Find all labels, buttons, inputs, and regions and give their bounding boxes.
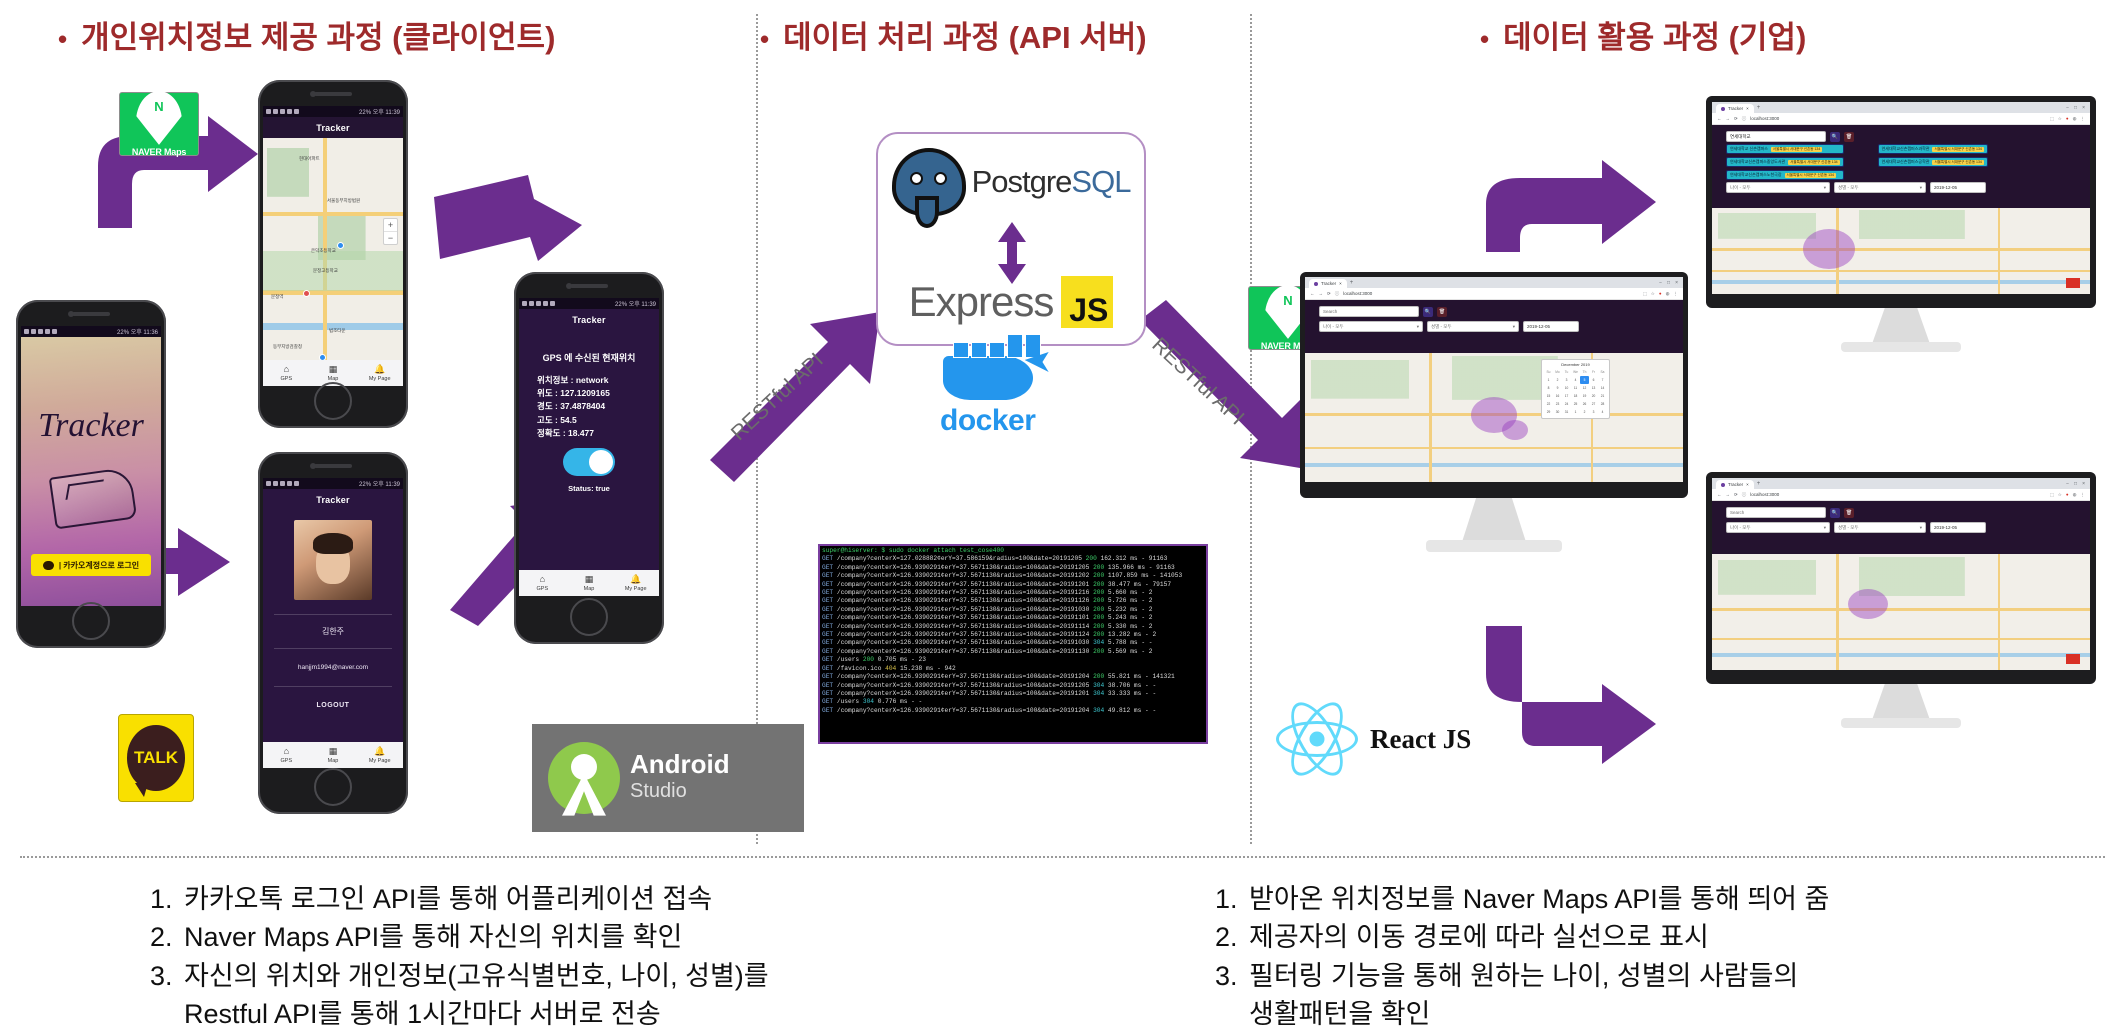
date-input[interactable]: 2019-12-05 [1930, 182, 1986, 193]
terminal-output: super@hiserver: $ sudo docker attach tes… [820, 546, 1206, 716]
app-title: Tracker [263, 117, 403, 137]
home-icon: ⌂ [263, 746, 310, 757]
tracker-wordmark: Tracker [21, 407, 161, 445]
phone-home-button[interactable] [314, 768, 352, 806]
maximize-icon[interactable]: □ [2074, 481, 2077, 487]
gender-filter-select[interactable]: 성별 - 모두▾ [1834, 522, 1926, 533]
results-column-right: 연세대학교신촌캠퍼스과학관서울특별시 서대문구 신촌동 134 연세대학교신촌캠… [1878, 144, 1988, 180]
minimize-icon[interactable]: − [1659, 280, 1662, 286]
logout-button[interactable]: LOGOUT [274, 702, 392, 709]
profile-name: 김한주 [274, 626, 392, 637]
chevron-down-icon: ▾ [1920, 525, 1922, 531]
monitor-base [1841, 718, 1961, 728]
browser-tabbar[interactable]: Tracker× + −□× [1712, 478, 2090, 489]
phone-home-button[interactable] [72, 602, 110, 640]
search-input[interactable]: Search [1726, 507, 1826, 518]
route-cluster [1848, 589, 1888, 619]
search-row: Search 🔍 🗑 [1712, 505, 2090, 520]
url-text[interactable]: localhost:3000 [1750, 492, 1779, 497]
search-row: 연세대학교 🔍 🗑 [1712, 129, 2090, 144]
map-label: 법조타운 [329, 328, 346, 334]
new-tab-button[interactable]: + [1757, 105, 1761, 111]
kakao-talk-badge[interactable]: TALK [118, 714, 194, 802]
status-bar: 22% 오후 11:39 [263, 106, 403, 117]
browser-tabbar[interactable]: Tracker× + −□× [1305, 277, 1683, 288]
browser-main[interactable]: Tracker× + −□× ←→⟳ ⓘlocalhost:3000 ⬚☆●◍⋮… [1305, 277, 1683, 482]
phone-profile-screen: 22% 오후 11:39 Tracker 김한주 hanjjm1994@nave… [263, 478, 403, 768]
browser-search-results[interactable]: Tracker× + −□× ←→⟳ ⓘlocalhost:3000 ⬚☆●◍⋮… [1712, 102, 2090, 294]
map-label: 문정역 [271, 294, 283, 300]
phone-speaker-icon [570, 284, 608, 288]
close-icon[interactable]: × [1339, 281, 1342, 286]
menu-icon[interactable]: ⋮ [2081, 492, 2086, 498]
favicon-icon [1314, 282, 1318, 286]
home-icon: ⌂ [519, 574, 566, 585]
profile-email: hanjjm1994@naver.com [274, 664, 392, 671]
kakao-bubble-icon: TALK [127, 725, 185, 790]
forward-icon[interactable]: → [1726, 492, 1731, 497]
phone-login-screen: 22% 오후 11:36 Tracker | 카카오계정으로 로그인 [21, 326, 161, 606]
android-robot-icon [548, 742, 620, 814]
browser-tab[interactable]: Tracker× [1716, 104, 1754, 113]
bullet-icon: • [1480, 24, 1489, 54]
back-icon[interactable]: ← [1717, 116, 1722, 121]
monitor-stand [1462, 498, 1526, 542]
status-bar: 22% 오후 11:39 [263, 478, 403, 489]
arrow-monitor-to-top [1480, 160, 1670, 270]
naver-maps-badge-client[interactable]: N NAVER Maps [119, 92, 199, 156]
eye-icon [910, 172, 923, 185]
note-item: 2.제공자의 이동 경로에 따라 실선으로 표시 [1215, 918, 1829, 956]
section-title-api-label: 데이터 처리 과정 (API 서버) [783, 20, 1146, 55]
url-text[interactable]: localhost:3000 [1343, 291, 1372, 296]
gps-status-line: Status: true [519, 484, 659, 493]
status-battery: 22% 오후 11:39 [615, 299, 656, 308]
elephant-icon [892, 148, 966, 216]
close-icon[interactable]: × [1746, 106, 1749, 111]
phone-gps-screen: 22% 오후 11:39 Tracker GPS 에 수신된 현재위치 위치정보… [519, 298, 659, 596]
divider [274, 648, 392, 649]
app-title: Tracker [519, 309, 659, 329]
gps-field-accuracy: 정확도 : 18.477 [537, 427, 659, 440]
naver-map-view[interactable]: December 2019 SuMoTuWeThFrSa123456789101… [1305, 353, 1683, 482]
react-label: React JS [1370, 724, 1471, 755]
date-picker-calendar[interactable]: December 2019 SuMoTuWeThFrSa123456789101… [1541, 359, 1610, 419]
phone-speaker-icon [72, 312, 110, 316]
bookmark-icon[interactable]: ☆ [1651, 291, 1655, 297]
kakao-login-button[interactable]: | 카카오계정으로 로그인 [31, 554, 151, 576]
browser-urlbar[interactable]: ←→⟳ ⓘlocalhost:3000 ⬚☆●◍⋮ [1305, 288, 1683, 300]
phone-speaker-icon [314, 464, 352, 468]
app-filter-panel: 연세대학교 🔍 🗑 연세대학교 신촌캠퍼스서울특별시 서대문구 신촌동 134 … [1712, 125, 2090, 217]
phone-gps: 22% 오후 11:39 Tracker GPS 에 수신된 현재위치 위치정보… [514, 272, 664, 644]
chevron-down-icon: ▾ [1513, 324, 1515, 330]
naver-pin-letter: N [136, 99, 183, 114]
filter-row: 나이 - 모두▾ 성별 - 모두▾ 2019-12-05 [1712, 180, 2090, 195]
reactjs-logo: React JS [1278, 700, 1471, 778]
search-icon[interactable]: 🔍 [1830, 508, 1840, 518]
browser-tab[interactable]: Tracker× [1309, 279, 1347, 288]
monitor-base [1426, 540, 1562, 552]
result-item[interactable]: 연세대학교신촌캠퍼스노천극장서울특별시 서대문구 신촌동 134 [1726, 170, 1844, 180]
maximize-icon[interactable]: □ [2074, 105, 2077, 111]
back-icon[interactable]: ← [1717, 492, 1722, 497]
note-item: 3.필터링 기능을 통해 원하는 나이, 성별의 사람들의 [1215, 957, 1829, 995]
trash-icon[interactable]: 🗑 [1844, 508, 1854, 518]
route-cluster [1502, 420, 1528, 440]
age-filter-select[interactable]: 나이 - 모두▾ [1726, 182, 1830, 193]
map-marker[interactable] [303, 290, 310, 297]
profile-icon[interactable]: ◍ [2073, 116, 2077, 122]
search-input[interactable]: 연세대학교 [1726, 131, 1826, 142]
js-badge: JS [1061, 276, 1113, 328]
gps-heading: GPS 에 수신된 현재위치 [519, 351, 659, 364]
postgresql-logo: PostgreSQL [878, 148, 1144, 216]
minimize-icon[interactable]: − [2066, 105, 2069, 111]
postgresql-label: PostgreSQL [972, 164, 1131, 200]
results-column-left: 연세대학교 신촌캠퍼스서울특별시 서대문구 신촌동 134 연세대학교신촌캠퍼스… [1726, 144, 1844, 180]
nav-item-map[interactable]: ▦Map [310, 746, 357, 764]
grid-icon: ▦ [566, 574, 613, 585]
date-input[interactable]: 2019-12-05 [1523, 321, 1579, 332]
menu-icon[interactable]: ⋮ [2081, 116, 2086, 122]
arrow-monitor-to-bottom [1480, 640, 1670, 760]
gps-fields: 위치정보 : network 위도 : 127.1209165 경도 : 37.… [537, 374, 659, 440]
app-title: Tracker [263, 489, 403, 509]
bullet-icon: • [58, 24, 67, 54]
extension-icon[interactable]: ⬚ [2050, 116, 2054, 122]
adblock-icon[interactable]: ● [1659, 291, 1662, 296]
new-tab-button[interactable]: + [1350, 280, 1354, 286]
bookmark-icon[interactable]: ☆ [2058, 116, 2062, 122]
bottom-nav[interactable]: ⌂GPS ▦Map 🔔My Page [263, 742, 403, 768]
profile-photo [294, 520, 372, 600]
new-tab-button[interactable]: + [1757, 481, 1761, 487]
kakao-talk-label: TALK [134, 748, 178, 768]
nav-item-mypage[interactable]: 🔔My Page [356, 746, 403, 764]
monitor-top-right: Tracker× + −□× ←→⟳ ⓘlocalhost:3000 ⬚☆●◍⋮… [1706, 96, 2096, 308]
window-controls[interactable]: −□× [1659, 280, 1683, 286]
chevron-down-icon: ▾ [1417, 324, 1419, 330]
notes-right: 1.받아온 위치정보를 Naver Maps API를 통해 띄어 줌 2.제공… [1215, 880, 1829, 1033]
zoom-out-button[interactable]: − [384, 231, 397, 244]
status-icons-left [266, 109, 299, 114]
bell-icon: 🔔 [356, 746, 403, 757]
react-atom-icon [1278, 700, 1356, 778]
search-icon[interactable]: 🔍 [1423, 307, 1433, 317]
section-title-client: •개인위치정보 제공 과정 (클라이언트) [58, 12, 555, 57]
bullet-icon: • [760, 24, 769, 54]
grid-icon: ▦ [310, 364, 357, 375]
menu-icon[interactable]: ⋮ [1674, 291, 1679, 297]
age-filter-select[interactable]: 나이 - 모두▾ [1726, 522, 1830, 533]
map-legend-marker [2066, 278, 2080, 288]
monitor-stand [1872, 308, 1930, 344]
monitor-main: Tracker× + −□× ←→⟳ ⓘlocalhost:3000 ⬚☆●◍⋮… [1300, 272, 1688, 498]
grid-icon: ▦ [310, 746, 357, 757]
android-studio-badge: Android Studio [532, 724, 804, 832]
gender-filter-select[interactable]: 성별 - 모두▾ [1427, 321, 1519, 332]
section-title-company-label: 데이터 활용 과정 (기업) [1503, 20, 1806, 55]
note-item: 3.자신의 위치와 개인정보(고유식별번호, 나이, 성별)를 [150, 957, 769, 995]
filter-row: 나이 - 모두▾ 성별 - 모두▾ 2019-12-05 [1712, 520, 2090, 535]
gps-toggle-switch[interactable] [563, 448, 615, 476]
date-input[interactable]: 2019-12-05 [1930, 522, 1986, 533]
monitor-base [1841, 342, 1961, 352]
profile-icon[interactable]: ◍ [2073, 492, 2077, 498]
map-label: 현대아파트 [299, 156, 320, 162]
nav-item-map[interactable]: ▦Map [566, 574, 613, 592]
note-item-continued: Restful API를 통해 1시간마다 서버로 전송 [150, 995, 769, 1033]
divider [274, 614, 392, 615]
info-icon: ⓘ [1742, 116, 1747, 122]
extension-icon[interactable]: ⬚ [1643, 291, 1647, 297]
gps-field-provider: 위치정보 : network [537, 374, 659, 387]
android-label: Android [630, 751, 730, 777]
note-item: 1.카카오톡 로그인 API를 통해 어플리케이션 접속 [150, 880, 769, 918]
divider [274, 686, 392, 687]
phone-home-button[interactable] [314, 382, 352, 420]
phone-speaker-icon [314, 92, 352, 96]
phone-home-button[interactable] [570, 598, 608, 636]
naver-maps-label: NAVER Maps [132, 147, 186, 157]
map-zoom-controls[interactable]: + − [383, 218, 398, 245]
map-marker[interactable] [337, 242, 344, 249]
result-item[interactable]: 연세대학교신촌캠퍼스과학관서울특별시 서대문구 신촌동 134 [1878, 144, 1988, 154]
zoom-in-button[interactable]: + [384, 219, 397, 231]
section-title-company: •데이터 활용 과정 (기업) [1480, 12, 1806, 57]
home-icon: ⌂ [263, 364, 310, 375]
map-label: 문정고등학교 [313, 268, 338, 274]
info-icon: ⓘ [1335, 291, 1340, 297]
trash-icon[interactable]: 🗑 [1844, 132, 1854, 142]
url-text[interactable]: localhost:3000 [1750, 116, 1779, 121]
android-studio-sublabel: Studio [630, 777, 730, 805]
kakao-bubble-icon [43, 561, 54, 570]
status-bar: 22% 오후 11:39 [519, 298, 659, 309]
gps-field-altitude: 고도 : 54.5 [537, 414, 659, 427]
server-terminal[interactable]: super@hiserver: $ sudo docker attach tes… [818, 544, 1208, 744]
trash-icon[interactable]: 🗑 [1437, 307, 1447, 317]
chevron-down-icon: ▾ [1824, 185, 1826, 191]
phone-login: 22% 오후 11:36 Tracker | 카카오계정으로 로그인 [16, 300, 166, 648]
js-label: JS [1069, 294, 1108, 326]
result-item[interactable]: 연세대학교 신촌캠퍼스서울특별시 서대문구 신촌동 134 [1726, 144, 1844, 154]
close-icon[interactable]: × [1746, 482, 1749, 487]
browser-toolbar-right[interactable]: ⬚☆●◍⋮ [2050, 116, 2085, 122]
terminal-prompt: super@hiserver: $ sudo docker attach tes… [822, 547, 1004, 554]
express-label: Express [909, 278, 1054, 326]
bookmark-icon[interactable]: ☆ [2058, 492, 2062, 498]
browser-map-only[interactable]: Tracker× + −□× ←→⟳ ⓘlocalhost:3000 ⬚☆●◍⋮… [1712, 478, 2090, 670]
forward-icon[interactable]: → [1319, 291, 1324, 296]
gps-field-longitude: 경도 : 37.4878404 [537, 400, 659, 413]
browser-tabbar[interactable]: Tracker× + −□× [1712, 102, 2090, 113]
maximize-icon[interactable]: □ [1667, 280, 1670, 286]
nav-item-map[interactable]: ▦Map [310, 364, 357, 382]
naver-pin-icon: N [136, 91, 183, 145]
extension-icon[interactable]: ⬚ [2050, 492, 2054, 498]
monitor-bottom-right: Tracker× + −□× ←→⟳ ⓘlocalhost:3000 ⬚☆●◍⋮… [1706, 472, 2096, 684]
age-filter-select[interactable]: 나이 - 모두▾ [1319, 321, 1423, 332]
search-icon[interactable]: 🔍 [1830, 132, 1840, 142]
docker-logo: docker [940, 356, 1035, 438]
bell-icon: 🔔 [612, 574, 659, 585]
browser-toolbar-right[interactable]: ⬚☆●◍⋮ [1643, 291, 1678, 297]
calendar-title: December 2019 [1544, 362, 1607, 367]
section-title-client-label: 개인위치정보 제공 과정 (클라이언트) [81, 20, 555, 55]
browser-urlbar[interactable]: ←→⟳ ⓘlocalhost:3000 ⬚☆●◍⋮ [1712, 113, 2090, 125]
gps-field-latitude: 위도 : 127.1209165 [537, 387, 659, 400]
chevron-down-icon: ▾ [1824, 525, 1826, 531]
reload-icon[interactable]: ⟳ [1734, 492, 1738, 498]
nav-item-gps[interactable]: ⌂GPS [263, 746, 310, 764]
kakao-login-label: | 카카오계정으로 로그인 [59, 560, 139, 571]
window-controls[interactable]: −□× [2066, 105, 2090, 111]
favicon-icon [1721, 107, 1725, 111]
gender-filter-select[interactable]: 성별 - 모두▾ [1834, 182, 1926, 193]
phone-map-screen: 22% 오후 11:39 Tracker 현대아파트 은덕초등학교 문정고등학교… [263, 106, 403, 386]
route-cluster [1803, 229, 1855, 269]
browser-urlbar[interactable]: ←→⟳ ⓘlocalhost:3000 ⬚☆●◍⋮ [1712, 489, 2090, 501]
results-columns: 연세대학교 신촌캠퍼스서울특별시 서대문구 신촌동 134 연세대학교신촌캠퍼스… [1712, 144, 2090, 180]
profile-icon[interactable]: ◍ [1666, 291, 1670, 297]
notes-left: 1.카카오톡 로그인 API를 통해 어플리케이션 접속 2.Naver Map… [150, 880, 769, 1033]
result-item[interactable]: 연세대학교신촌캠퍼스공학관서울특별시 서대문구 신촌동 134 [1878, 157, 1988, 167]
reload-icon[interactable]: ⟳ [1734, 116, 1738, 122]
containers-icon [953, 334, 1041, 358]
whale-icon [943, 356, 1033, 400]
window-controls[interactable]: −□× [2066, 481, 2090, 487]
server-stack-box: PostgreSQL Express JS [876, 132, 1146, 346]
chevron-down-icon: ▾ [1920, 185, 1922, 191]
status-battery: 22% 오후 11:36 [117, 327, 158, 336]
nav-item-gps[interactable]: ⌂GPS [263, 364, 310, 382]
bell-icon: 🔔 [356, 364, 403, 375]
shoe-illustration [49, 466, 138, 529]
toggle-knob [589, 450, 613, 474]
adblock-icon[interactable]: ● [2066, 492, 2069, 497]
status-icons-left [266, 481, 299, 486]
browser-toolbar-right[interactable]: ⬚☆●◍⋮ [2050, 492, 2085, 498]
status-battery: 22% 오후 11:39 [359, 479, 400, 488]
nav-item-mypage[interactable]: 🔔My Page [356, 364, 403, 382]
adblock-icon[interactable]: ● [2066, 116, 2069, 121]
filter-row: 나이 - 모두▾ 성별 - 모두▾ 2019-12-05 [1305, 319, 1683, 334]
divider-horizontal [20, 856, 2105, 858]
expressjs-logo: Express JS [878, 276, 1144, 328]
phone-map: 22% 오후 11:39 Tracker 현대아파트 은덕초등학교 문정고등학교… [258, 80, 408, 428]
docker-label: docker [940, 404, 1035, 438]
favicon-icon [1721, 483, 1725, 487]
calendar-grid[interactable]: SuMoTuWeThFrSa12345678910111213141516171… [1544, 368, 1607, 416]
nav-item-gps[interactable]: ⌂GPS [519, 574, 566, 592]
status-bar: 22% 오후 11:36 [21, 326, 161, 337]
section-title-api: •데이터 처리 과정 (API 서버) [760, 12, 1147, 57]
forward-icon[interactable]: → [1726, 116, 1731, 121]
eye-icon [934, 172, 947, 185]
search-input[interactable]: Search [1319, 306, 1419, 317]
map-label: 동부지방검찰청 [273, 344, 302, 350]
status-icons-left [522, 301, 555, 306]
naver-map-view[interactable] [1712, 208, 2090, 294]
map-label: 서울동부지방법원 [327, 198, 360, 204]
info-icon: ⓘ [1742, 492, 1747, 498]
browser-tab[interactable]: Tracker× [1716, 480, 1754, 489]
search-row: Search 🔍 🗑 [1305, 304, 1683, 319]
bottom-nav[interactable]: ⌂GPS ▦Map 🔔My Page [519, 570, 659, 596]
close-icon[interactable]: × [1675, 280, 1678, 286]
phone-profile: 22% 오후 11:39 Tracker 김한주 hanjjm1994@nave… [258, 452, 408, 814]
note-item: 2.Naver Maps API를 통해 자신의 위치를 확인 [150, 918, 769, 956]
nav-item-mypage[interactable]: 🔔My Page [612, 574, 659, 592]
result-item[interactable]: 연세대학교신촌캠퍼스중앙도서관서울특별시 서대문구 신촌동 134 [1726, 157, 1844, 167]
minimize-icon[interactable]: − [2066, 481, 2069, 487]
monitor-stand [1872, 684, 1930, 720]
close-icon[interactable]: × [2082, 481, 2085, 487]
status-icons-left [24, 329, 57, 334]
back-icon[interactable]: ← [1310, 291, 1315, 296]
note-item-continued: 생활패턴을 확인 [1215, 995, 1829, 1033]
reload-icon[interactable]: ⟳ [1327, 291, 1331, 297]
status-battery: 22% 오후 11:39 [359, 107, 400, 116]
note-item: 1.받아온 위치정보를 Naver Maps API를 통해 띄어 줌 [1215, 880, 1829, 918]
close-icon[interactable]: × [2082, 105, 2085, 111]
naver-map-view[interactable] [1712, 554, 2090, 670]
map-label: 은덕초등학교 [311, 248, 336, 254]
map-legend-marker [2066, 654, 2080, 664]
